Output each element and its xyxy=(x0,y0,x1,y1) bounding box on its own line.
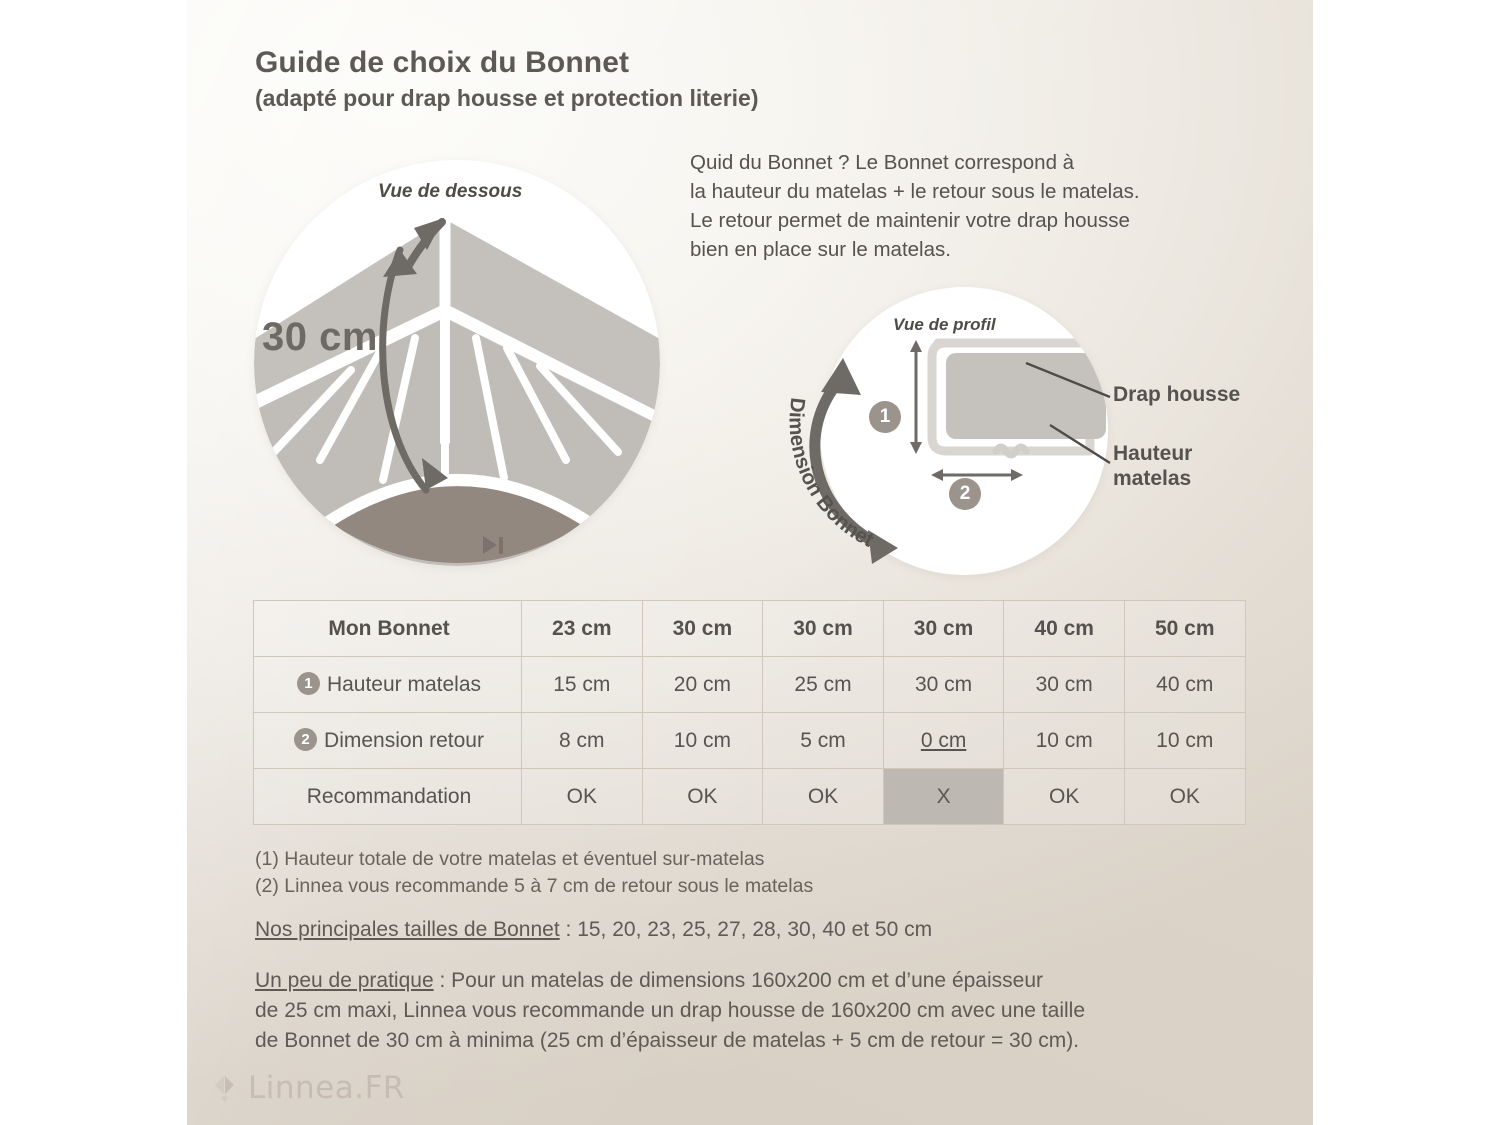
table-cell: 8 cm xyxy=(522,713,643,769)
page-title: Guide de choix du Bonnet xyxy=(255,46,1115,79)
row-badge-2: 2 xyxy=(294,728,317,751)
intro-paragraph: Quid du Bonnet ? Le Bonnet correspond à … xyxy=(690,148,1270,264)
table-cell: 40 cm xyxy=(1004,601,1125,657)
profile-badge-2-label: 2 xyxy=(960,483,971,504)
practice-line-1-rest: : Pour un matelas de dimensions 160x200 … xyxy=(434,969,1043,992)
dimension-bonnet-label: Dimension Bonnet xyxy=(784,396,877,551)
table-cell: OK xyxy=(522,769,643,825)
practice-line-1: Un peu de pratique : Pour un matelas de … xyxy=(255,966,1265,996)
sizes-rest: : 15, 20, 23, 25, 27, 28, 30, 40 et 50 c… xyxy=(560,918,932,941)
footnotes: (1) Hauteur totale de votre matelas et é… xyxy=(255,846,1255,900)
callout-hauteur-line2: matelas xyxy=(1113,467,1192,492)
logo-text: Linnea.FR xyxy=(248,1070,405,1106)
table-cell: 30 cm xyxy=(642,601,763,657)
table-cell: OK xyxy=(1004,769,1125,825)
callout-hauteur-matelas: Hauteur matelas xyxy=(1113,442,1192,492)
linnea-leaf-icon xyxy=(213,1073,239,1103)
table-cell: 15 cm xyxy=(522,657,643,713)
table-cell: OK xyxy=(642,769,763,825)
table-cell: 5 cm xyxy=(763,713,884,769)
table-row: 1Hauteur matelas 15 cm 20 cm 25 cm 30 cm… xyxy=(254,657,1246,713)
table-row-label: Mon Bonnet xyxy=(254,601,522,657)
practice-line-3: de Bonnet de 30 cm à minima (25 cm d’épa… xyxy=(255,1026,1265,1056)
table-cell: 23 cm xyxy=(522,601,643,657)
profile-badge-2: 2 xyxy=(949,478,981,510)
bottom-view-diagram xyxy=(254,160,660,566)
table-cell: 30 cm xyxy=(883,657,1004,713)
profile-badge-1-label: 1 xyxy=(880,406,891,427)
table-row: 2Dimension retour 8 cm 10 cm 5 cm 0 cm 1… xyxy=(254,713,1246,769)
intro-line-3: Le retour permet de maintenir votre drap… xyxy=(690,206,1270,235)
callout-hauteur-line1: Hauteur xyxy=(1113,442,1192,467)
row-badge-1: 1 xyxy=(297,672,320,695)
table-cell: 30 cm xyxy=(763,601,884,657)
sizes-heading: Nos principales tailles de Bonnet xyxy=(255,918,560,941)
table-cell-highlighted: X xyxy=(883,769,1004,825)
table-row-label-hauteur: 1Hauteur matelas xyxy=(254,657,522,713)
table-cell: 25 cm xyxy=(763,657,884,713)
table-row-label-retour: 2Dimension retour xyxy=(254,713,522,769)
row-label-text: Hauteur matelas xyxy=(327,673,481,696)
table-row: Mon Bonnet 23 cm 30 cm 30 cm 30 cm 40 cm… xyxy=(254,601,1246,657)
profile-view-caption: Vue de profil xyxy=(893,315,996,335)
table-cell-underlined: 0 cm xyxy=(921,729,967,752)
table-cell: 10 cm xyxy=(642,713,763,769)
practice-line-2: de 25 cm maxi, Linnea vous recommande un… xyxy=(255,996,1265,1026)
table-cell: 10 cm xyxy=(1004,713,1125,769)
bonnet-table-wrapper: Mon Bonnet 23 cm 30 cm 30 cm 30 cm 40 cm… xyxy=(253,600,1245,825)
table-cell: 0 cm xyxy=(883,713,1004,769)
practice-heading: Un peu de pratique xyxy=(255,969,434,992)
bonnet-table: Mon Bonnet 23 cm 30 cm 30 cm 30 cm 40 cm… xyxy=(253,600,1246,825)
table-cell: 30 cm xyxy=(883,601,1004,657)
linnea-logo: Linnea.FR xyxy=(213,1070,405,1106)
footnote-1: (1) Hauteur totale de votre matelas et é… xyxy=(255,846,1255,873)
intro-line-4: bien en place sur le matelas. xyxy=(690,235,1270,264)
table-cell: 10 cm xyxy=(1124,713,1245,769)
table-cell: 30 cm xyxy=(1004,657,1125,713)
table-cell: 40 cm xyxy=(1124,657,1245,713)
sizes-line: Nos principales tailles de Bonnet : 15, … xyxy=(255,918,932,942)
intro-line-2: la hauteur du matelas + le retour sous l… xyxy=(690,177,1270,206)
bottom-view-measure-label: 30 cm xyxy=(262,315,378,360)
footnote-2: (2) Linnea vous recommande 5 à 7 cm de r… xyxy=(255,873,1255,900)
profile-badge-1: 1 xyxy=(869,401,901,433)
page-title-block: Guide de choix du Bonnet (adapté pour dr… xyxy=(255,46,1115,111)
svg-text:Dimension Bonnet: Dimension Bonnet xyxy=(784,396,877,551)
practice-paragraph: Un peu de pratique : Pour un matelas de … xyxy=(255,966,1265,1055)
bottom-view-svg xyxy=(254,160,660,566)
page-canvas: Vue de dessous 30 cm 1 2 xyxy=(0,0,1500,1125)
page-subtitle: (adapté pour drap housse et protection l… xyxy=(255,86,1115,111)
table-cell: 20 cm xyxy=(642,657,763,713)
row-label-text: Dimension retour xyxy=(324,729,484,752)
table-cell: OK xyxy=(1124,769,1245,825)
table-row-label: Recommandation xyxy=(254,769,522,825)
callout-drap-housse: Drap housse xyxy=(1113,383,1240,408)
intro-line-1: Quid du Bonnet ? Le Bonnet correspond à xyxy=(690,148,1270,177)
table-row: Recommandation OK OK OK X OK OK xyxy=(254,769,1246,825)
table-cell: OK xyxy=(763,769,884,825)
bottom-view-caption: Vue de dessous xyxy=(378,181,522,203)
table-cell: 50 cm xyxy=(1124,601,1245,657)
